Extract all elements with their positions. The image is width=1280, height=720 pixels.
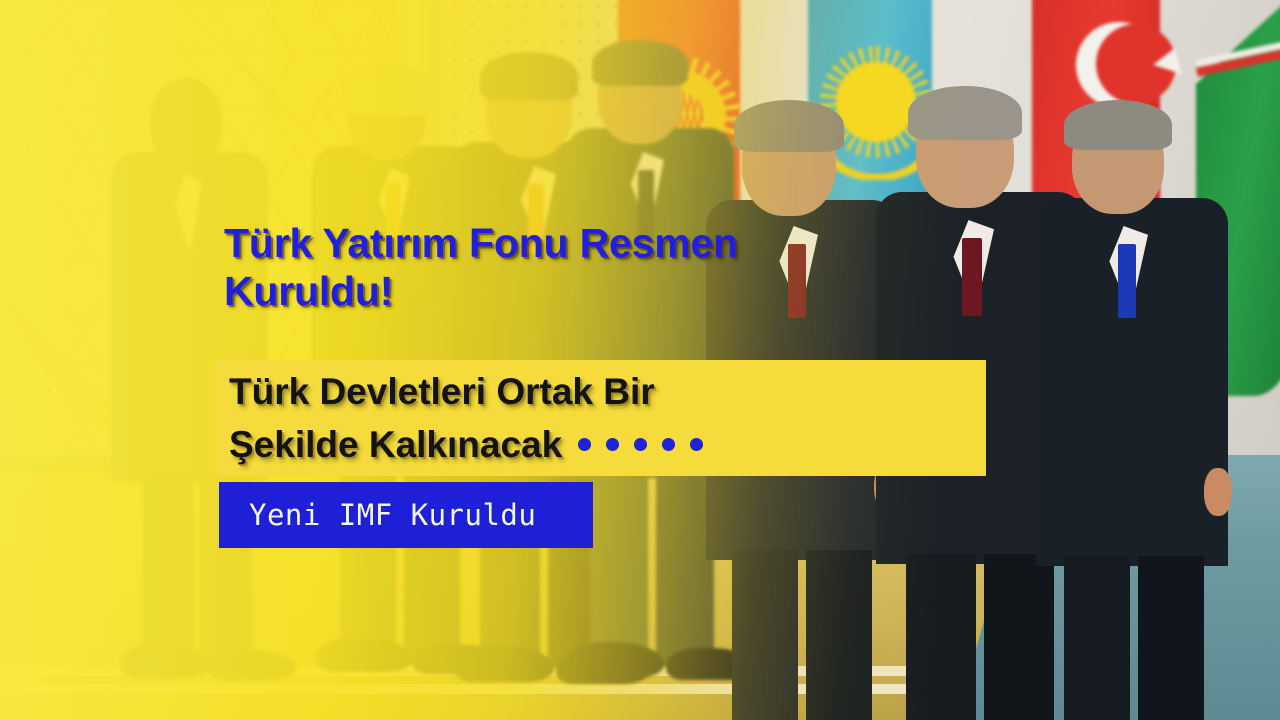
ellipsis-dot [662,438,675,451]
ellipsis-dot [690,438,703,451]
ellipsis-dot [606,438,619,451]
ellipsis-dot [634,438,647,451]
headline-line-1: Türk Yatırım Fonu Resmen [224,220,738,266]
subtitle-text: Türk Devletleri Ortak Bir Şekilde Kalkın… [229,368,979,468]
cta-badge[interactable]: Yeni IMF Kuruldu [219,482,593,548]
cta-label: Yeni IMF Kuruldu [249,498,536,532]
subtitle-line-1: Türk Devletleri Ortak Bir [229,371,655,412]
subtitle-line-2: Şekilde Kalkınacak [229,424,562,465]
headline: Türk Yatırım Fonu Resmen Kuruldu! [224,219,914,315]
ellipsis-dot [578,438,591,451]
ellipsis-dots [578,415,718,462]
headline-line-2: Kuruldu! [224,268,393,314]
subtitle-box: Türk Devletleri Ortak Bir Şekilde Kalkın… [215,360,986,476]
news-thumbnail-image: Türk Yatırım Fonu Resmen Kuruldu! Türk D… [0,0,1280,720]
